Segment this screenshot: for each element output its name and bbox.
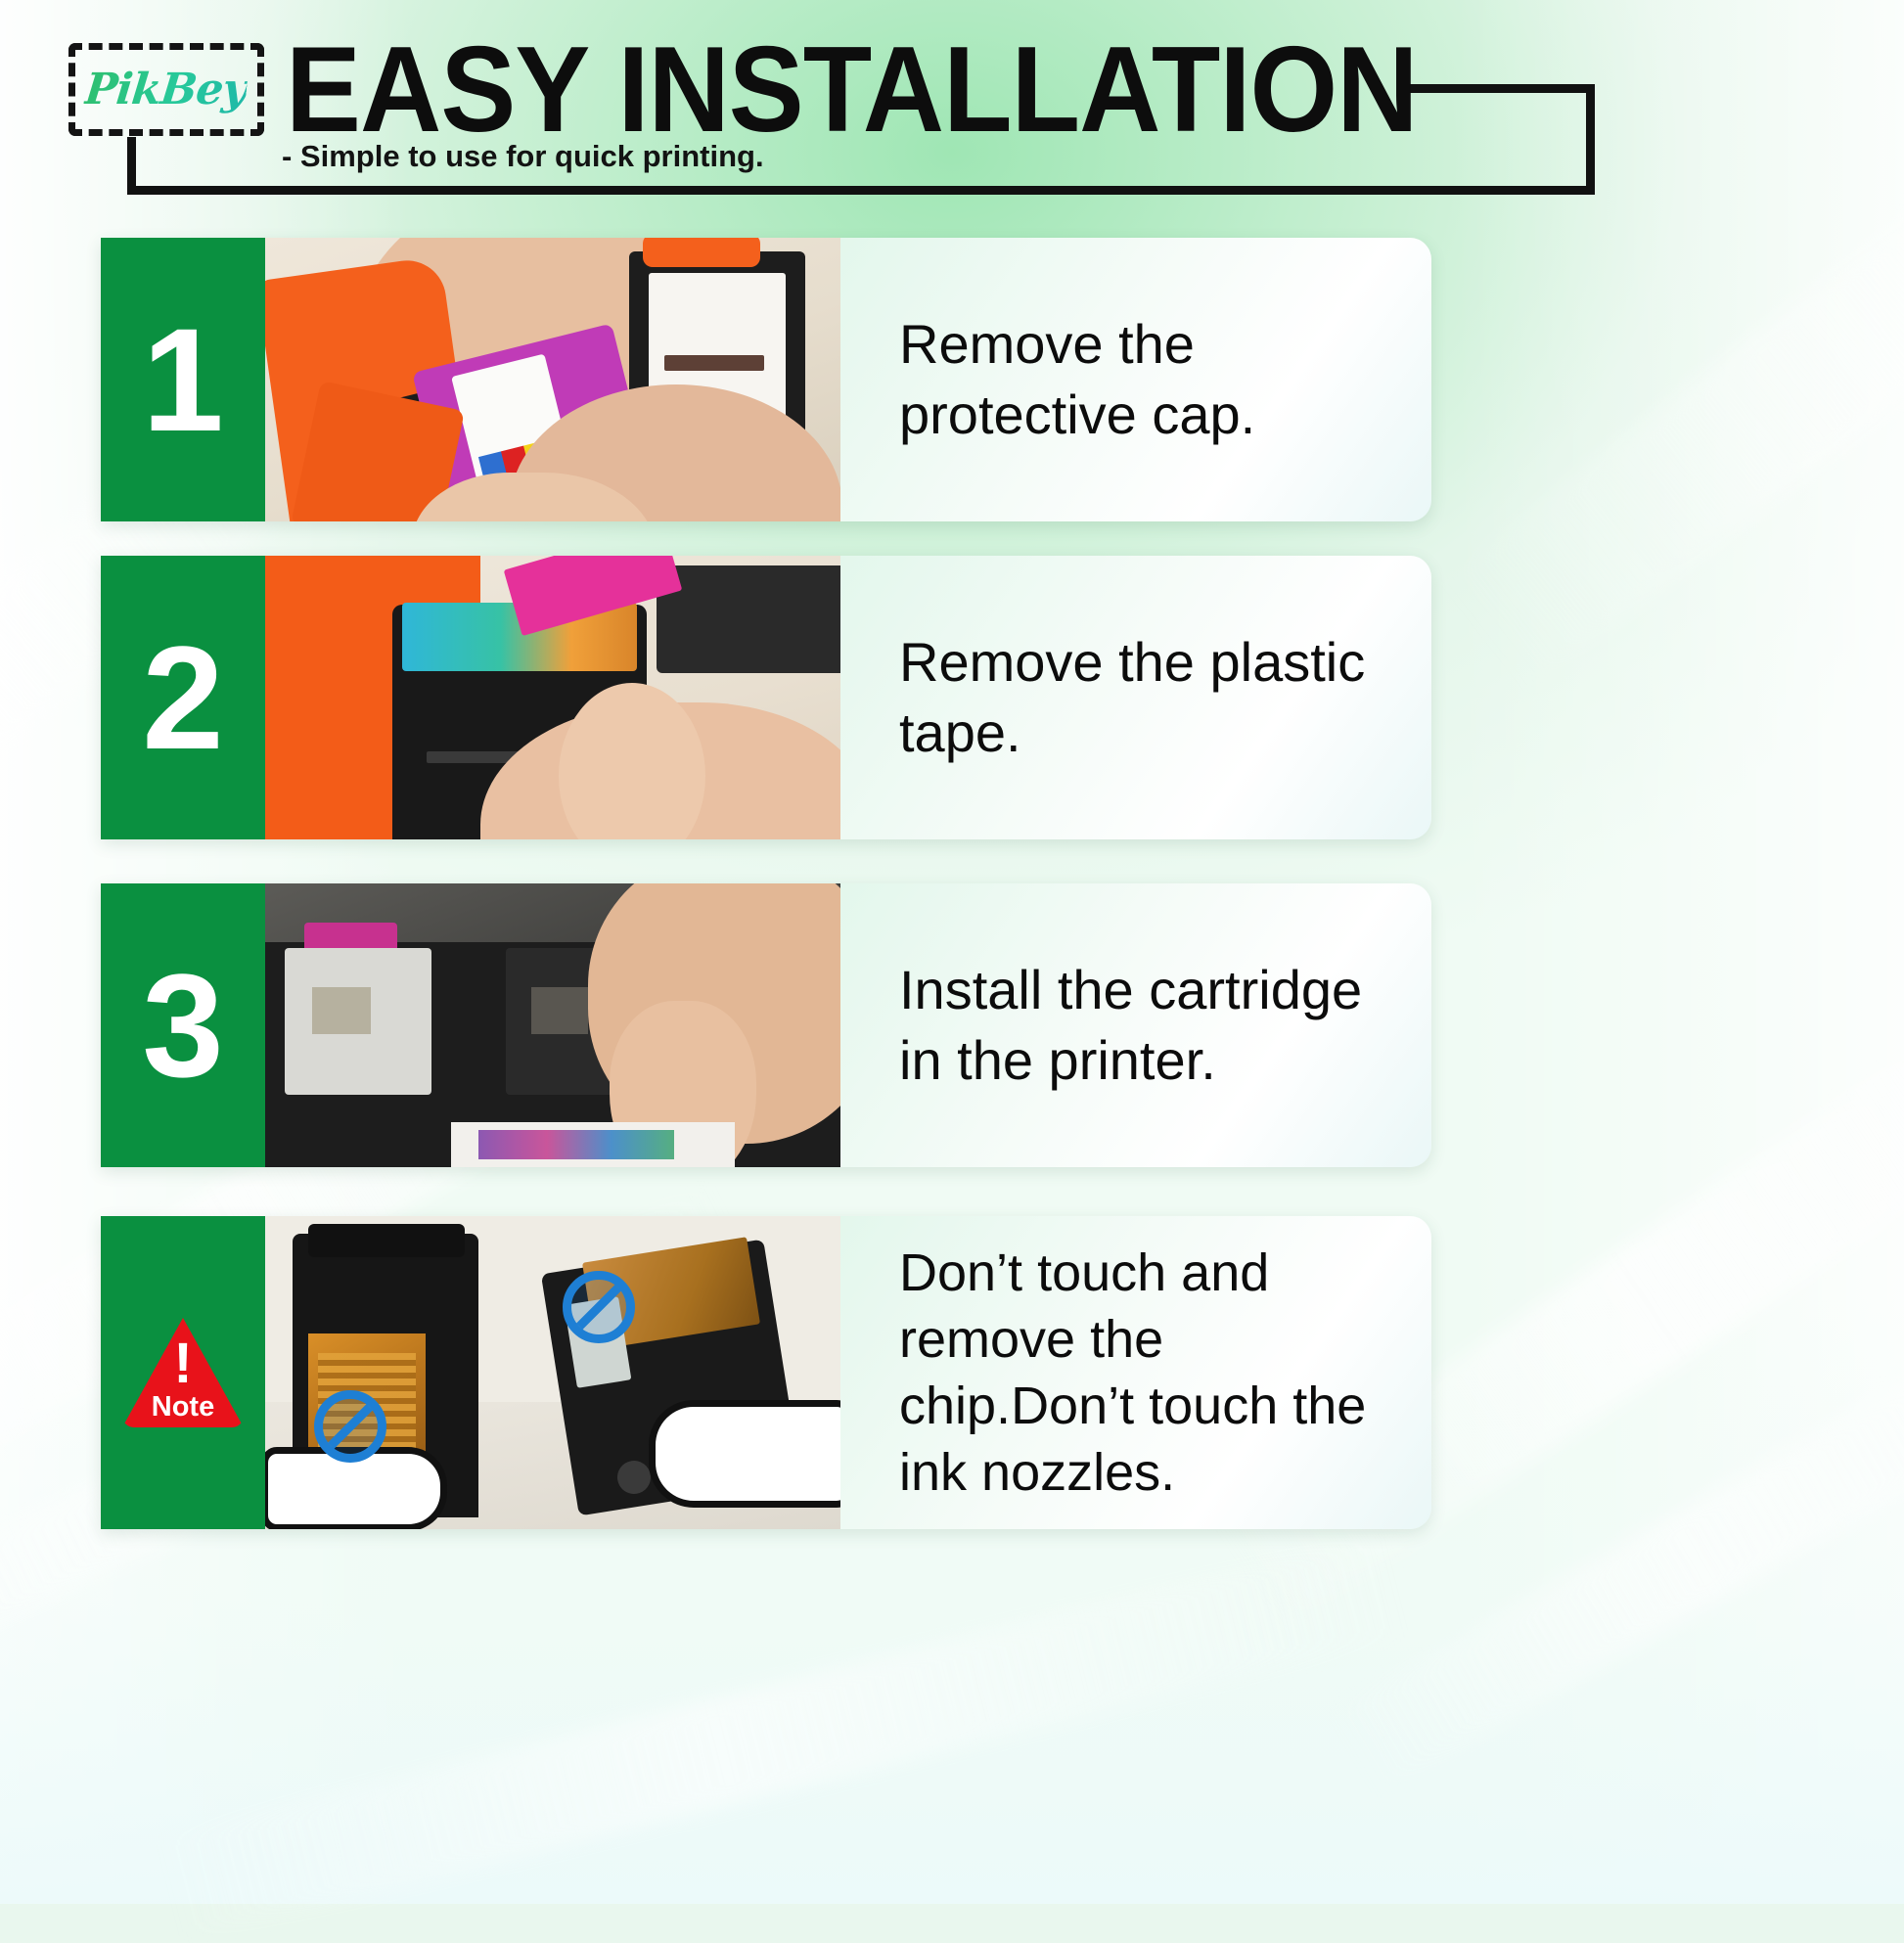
- note-row: ! Note Don’t touch and remove the chip.D…: [101, 1216, 1431, 1529]
- step-row-1: 1 Remove the protective cap.: [101, 238, 1431, 521]
- brand-logo-text: PikBey: [83, 65, 249, 114]
- exclamation-icon: !: [122, 1341, 244, 1386]
- note-text-panel: Don’t touch and remove the chip.Don’t to…: [840, 1216, 1431, 1529]
- step-number-label: 2: [142, 624, 223, 771]
- step-text-panel-1: Remove the protective cap.: [840, 238, 1431, 521]
- step-instruction: Remove the protective cap.: [899, 309, 1375, 449]
- step-number-block: 2: [101, 556, 265, 839]
- orange-cap: [643, 238, 760, 267]
- step-photo-1: [265, 238, 840, 521]
- step-number-block: 1: [101, 238, 265, 521]
- cartridge-contact: [312, 987, 371, 1034]
- step-number-label: 1: [142, 306, 223, 453]
- brand-logo: PikBey: [68, 43, 264, 136]
- page-title: EASY INSTALLATION: [286, 29, 1418, 151]
- no-touch-icon: [314, 1390, 386, 1463]
- step-instruction: Install the cartridge in the printer.: [899, 955, 1375, 1095]
- background-cartridge: [657, 565, 840, 673]
- step-number-label: 3: [142, 952, 223, 1099]
- header-frame-right-edge: [1586, 84, 1595, 194]
- cartridge-barcode: [664, 355, 764, 371]
- step-photo-3: [265, 883, 840, 1167]
- cartridge-contact: [531, 987, 588, 1034]
- warning-triangle-icon: ! Note: [122, 1318, 244, 1427]
- pointing-hand-icon: [649, 1400, 840, 1508]
- step-text-panel-2: Remove the plastic tape.: [840, 556, 1431, 839]
- note-photo: [265, 1216, 840, 1529]
- step-photo-2: [265, 556, 840, 839]
- note-instruction: Don’t touch and remove the chip.Don’t to…: [899, 1240, 1375, 1506]
- no-touch-icon: [563, 1271, 635, 1343]
- note-badge-block: ! Note: [101, 1216, 265, 1529]
- header-frame-top-rule: [1409, 84, 1595, 93]
- step-row-2: 2 Remove the plastic tape.: [101, 556, 1431, 839]
- header-frame-bottom-rule: [127, 186, 1595, 195]
- left-cartridge-top: [308, 1224, 465, 1257]
- step-number-block: 3: [101, 883, 265, 1167]
- page-subtitle: - Simple to use for quick printing.: [282, 139, 764, 174]
- note-label: Note: [122, 1391, 244, 1423]
- printed-color-bars: [478, 1130, 674, 1159]
- step-instruction: Remove the plastic tape.: [899, 627, 1375, 767]
- step-row-3: 3 Install the cartridge in the printer.: [101, 883, 1431, 1167]
- header: PikBey EASY INSTALLATION - Simple to use…: [0, 0, 1904, 235]
- step-text-panel-3: Install the cartridge in the printer.: [840, 883, 1431, 1167]
